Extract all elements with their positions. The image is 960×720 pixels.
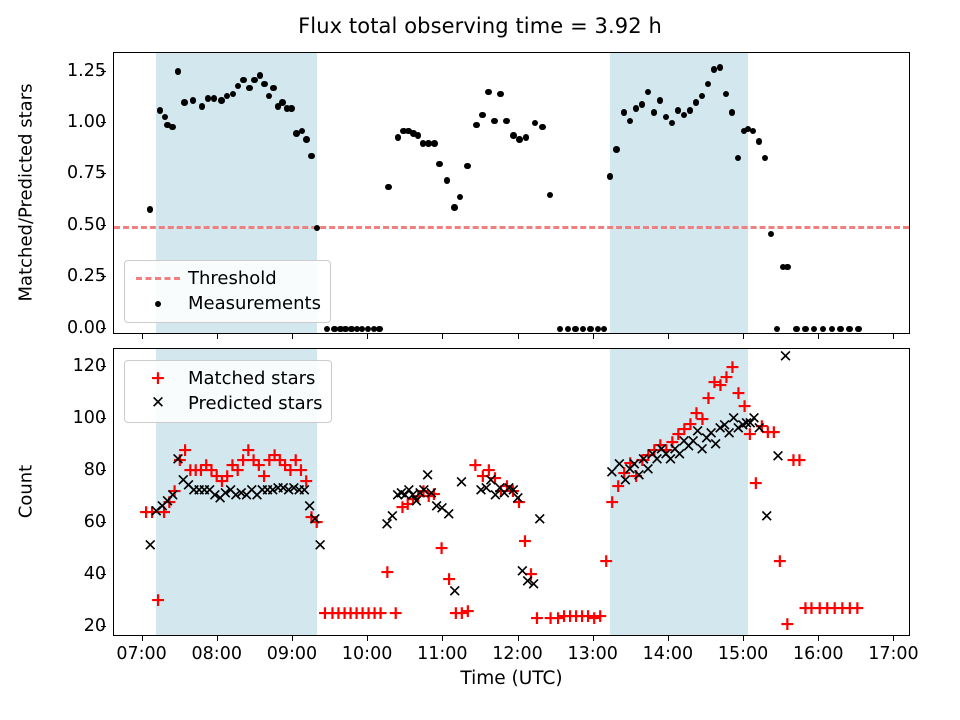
measurement-point — [491, 118, 498, 125]
threshold-line — [114, 226, 909, 229]
measurement-point — [657, 97, 664, 104]
x-tick-mark-top-panel — [668, 334, 669, 339]
measurement-point — [415, 132, 422, 139]
bottom-panel-legend: + Matched stars ✕ Predicted stars — [124, 360, 332, 423]
measurement-point — [539, 124, 546, 131]
predicted-star-point: ✕ — [778, 349, 792, 366]
measurement-point — [324, 326, 331, 333]
figure-canvas: Flux total observing time = 3.92 h 0.000… — [0, 0, 960, 720]
x-tick-label: 09:00 — [267, 644, 317, 664]
measurement-point — [175, 68, 182, 75]
measurement-point — [855, 326, 862, 333]
measurement-point — [288, 105, 295, 112]
measurement-point — [768, 231, 775, 238]
x-tick-mark — [668, 636, 669, 641]
matched-star-point: + — [725, 358, 741, 377]
x-tick-label: 11:00 — [417, 644, 467, 664]
measurement-point — [308, 153, 315, 160]
matched-star-point: + — [379, 563, 395, 582]
predicted-star-point: ✕ — [385, 509, 399, 526]
measurement-point — [240, 77, 247, 84]
y-tick-mark — [101, 470, 106, 471]
measurement-point — [457, 194, 464, 201]
matched-star-point: + — [849, 599, 865, 618]
measurement-point — [580, 326, 587, 333]
measurement-point — [303, 136, 310, 143]
matched-star-point: + — [434, 539, 450, 558]
matched-star-point: + — [791, 451, 807, 470]
x-tick-mark-top-panel — [593, 334, 594, 339]
x-tick-mark — [593, 636, 594, 641]
dashed-line-icon — [132, 277, 184, 280]
legend-item-threshold: Threshold — [132, 266, 321, 291]
measurement-point — [651, 109, 658, 116]
x-tick-label: 15:00 — [718, 644, 768, 664]
measurement-point — [802, 326, 809, 333]
x-tick-label: 16:00 — [793, 644, 843, 664]
measurement-point — [627, 118, 634, 125]
matched-star-point: + — [772, 552, 788, 571]
y-tick-mark — [101, 173, 106, 174]
predicted-star-point: ✕ — [752, 421, 766, 438]
measurement-point — [663, 114, 670, 121]
measurement-point — [601, 326, 608, 333]
measurement-point — [503, 118, 510, 125]
cross-marker-icon: ✕ — [132, 395, 184, 412]
legend-label-threshold: Threshold — [184, 268, 277, 289]
measurement-point — [270, 85, 277, 92]
measurement-point — [750, 128, 757, 135]
x-tick-label: 14:00 — [643, 644, 693, 664]
measurement-point — [793, 326, 800, 333]
measurement-point — [846, 326, 853, 333]
y-tick-mark — [101, 71, 106, 72]
x-tick-mark-top-panel — [518, 334, 519, 339]
predicted-star-point: ✕ — [454, 475, 468, 492]
measurement-point — [837, 326, 844, 333]
matched-star-point: + — [373, 604, 389, 623]
matched-star-point: + — [766, 423, 782, 442]
y-tick-mark — [101, 328, 106, 329]
matched-star-point: + — [388, 604, 404, 623]
measurement-point — [376, 326, 383, 333]
y-tick-mark — [101, 366, 106, 367]
measurement-point — [485, 89, 492, 96]
legend-label-matched-stars: Matched stars — [184, 368, 315, 389]
x-tick-label: 13:00 — [567, 644, 617, 664]
measurement-point — [473, 122, 480, 129]
measurement-point — [190, 97, 197, 104]
measurement-point — [693, 99, 700, 106]
bottom-panel-y-axis-label: Count — [16, 348, 37, 636]
y-tick-mark — [101, 122, 106, 123]
predicted-star-point: ✕ — [143, 538, 157, 555]
x-tick-mark-top-panel — [743, 334, 744, 339]
x-tick-mark-top-panel — [142, 334, 143, 339]
measurement-point — [436, 161, 443, 168]
measurement-point — [639, 101, 646, 108]
x-tick-mark — [367, 636, 368, 641]
x-axis-label: Time (UTC) — [113, 668, 910, 689]
predicted-star-point: ✕ — [448, 584, 462, 601]
x-tick-mark — [743, 636, 744, 641]
top-panel-y-ticks: 0.000.250.500.751.001.25 — [46, 52, 106, 334]
measurement-point — [547, 192, 554, 199]
matched-star-point: + — [460, 602, 476, 621]
measurement-point — [565, 326, 572, 333]
x-tick-mark — [217, 636, 218, 641]
measurement-point — [762, 155, 769, 162]
x-tick-label: 12:00 — [492, 644, 542, 664]
x-tick-mark — [142, 636, 143, 641]
x-tick-mark-top-panel — [893, 334, 894, 339]
measurement-point — [314, 225, 321, 232]
measurement-point — [532, 120, 539, 127]
measurement-point — [687, 107, 694, 114]
measurement-point — [444, 177, 451, 184]
top-panel-y-axis-label: Matched/Predicted stars — [16, 52, 37, 334]
measurement-point — [218, 97, 225, 104]
x-tick-mark-top-panel — [442, 334, 443, 339]
top-panel-legend: Threshold Measurements — [124, 260, 331, 323]
predicted-star-point: ✕ — [709, 437, 723, 454]
predicted-star-point: ✕ — [171, 452, 185, 469]
page-title: Flux total observing time = 3.92 h — [0, 14, 960, 38]
predicted-star-point: ✕ — [166, 488, 180, 505]
measurement-point — [572, 326, 579, 333]
legend-item-matched-stars: + Matched stars — [132, 366, 322, 391]
y-tick-mark — [101, 225, 106, 226]
matched-star-point: + — [592, 607, 608, 626]
measurement-point — [257, 72, 264, 79]
measurement-point — [633, 105, 640, 112]
x-tick-mark — [518, 636, 519, 641]
predicted-star-point: ✕ — [527, 577, 541, 594]
measurement-point — [181, 99, 188, 106]
matched-star-point: + — [150, 591, 166, 610]
predicted-star-point: ✕ — [442, 507, 456, 524]
measurement-point — [451, 204, 458, 211]
measurement-point — [820, 326, 827, 333]
measurement-point — [385, 184, 392, 191]
measurement-point — [756, 138, 763, 145]
measurement-point — [246, 85, 253, 92]
measurement-point — [147, 206, 154, 213]
legend-item-predicted-stars: ✕ Predicted stars — [132, 391, 322, 416]
measurement-point — [681, 112, 688, 119]
matched-star-point: + — [517, 532, 533, 551]
measurement-point — [395, 134, 402, 141]
matched-star-point: + — [748, 474, 764, 493]
y-tick-mark — [101, 522, 106, 523]
predicted-star-point: ✕ — [771, 449, 785, 466]
x-tick-label: 17:00 — [868, 644, 918, 664]
measurement-point — [621, 109, 628, 116]
bottom-panel-y-ticks: 20406080100120 — [46, 348, 106, 636]
predicted-star-point: ✕ — [308, 512, 322, 529]
predicted-star-point: ✕ — [760, 509, 774, 526]
x-tick-mark — [818, 636, 819, 641]
measurement-point — [523, 134, 530, 141]
measurement-point — [479, 112, 486, 119]
x-tick-mark-top-panel — [292, 334, 293, 339]
legend-item-measurements: Measurements — [132, 291, 321, 316]
x-tick-mark — [442, 636, 443, 641]
measurement-point — [717, 64, 724, 71]
measurement-point — [464, 163, 471, 170]
matched-star-point: + — [779, 615, 795, 634]
measurement-point — [199, 103, 206, 110]
measurement-point — [811, 326, 818, 333]
measurement-point — [784, 264, 791, 271]
measurement-point — [829, 326, 836, 333]
measurement-point — [157, 107, 164, 114]
legend-label-predicted-stars: Predicted stars — [184, 393, 322, 414]
measurement-point — [261, 81, 268, 88]
predicted-star-point: ✕ — [511, 491, 525, 508]
y-tick-mark — [101, 276, 106, 277]
measurement-point — [431, 140, 438, 147]
y-tick-mark — [101, 418, 106, 419]
x-tick-label: 08:00 — [192, 644, 242, 664]
dot-marker-icon — [132, 301, 184, 307]
x-axis-ticks: 07:0008:0009:0010:0011:0012:0013:0014:00… — [113, 636, 910, 666]
matched-star-point: + — [598, 552, 614, 571]
measurement-point — [497, 91, 504, 98]
measurement-point — [516, 136, 523, 143]
measurement-point — [675, 107, 682, 114]
measurement-point — [557, 326, 564, 333]
x-tick-mark-top-panel — [217, 334, 218, 339]
plus-marker-icon: + — [132, 369, 184, 388]
x-tick-mark-top-panel — [367, 334, 368, 339]
predicted-star-point: ✕ — [533, 512, 547, 529]
x-tick-mark — [893, 636, 894, 641]
measurement-point — [774, 326, 781, 333]
measurement-point — [211, 95, 218, 102]
predicted-star-point: ✕ — [421, 468, 435, 485]
x-tick-mark — [292, 636, 293, 641]
y-tick-mark — [101, 574, 106, 575]
y-tick-mark — [101, 626, 106, 627]
x-tick-label: 07:00 — [116, 644, 166, 664]
x-tick-label: 10:00 — [342, 644, 392, 664]
measurement-point — [613, 146, 620, 153]
legend-label-measurements: Measurements — [184, 293, 321, 314]
x-tick-mark-top-panel — [818, 334, 819, 339]
predicted-star-point: ✕ — [313, 538, 327, 555]
measurement-point — [587, 326, 594, 333]
